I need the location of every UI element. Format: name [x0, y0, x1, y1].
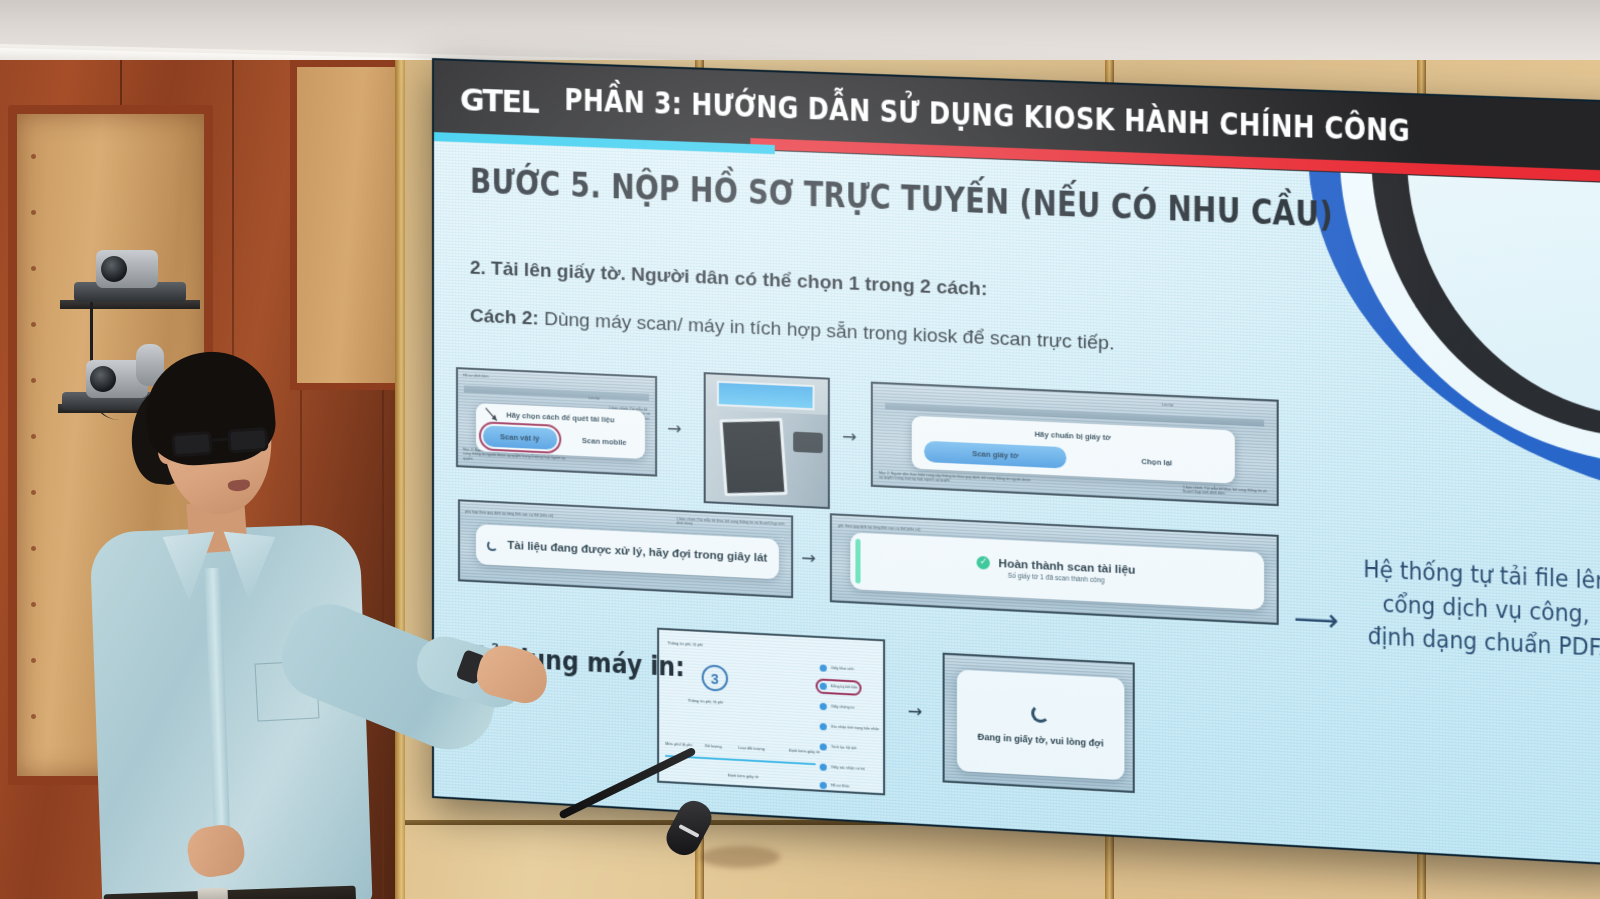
- arrow-photo-to-thumb3: →: [842, 427, 857, 448]
- projection-screen: GTEL PHẦN 3: HƯỚNG DẪN SỬ DỤNG KIOSK HÀN…: [432, 58, 1600, 867]
- wood-alcove-panel: [290, 60, 410, 390]
- printing-banner: Đang in giấy tờ, vui lòng đợi: [957, 670, 1124, 781]
- arrow-to-right-note: ⟶: [1293, 601, 1338, 639]
- thumb-printer-kiosk-ui: Thông tin phí, lệ phí 3 Thông tin phí, l…: [657, 628, 885, 796]
- banner-accent-bar: [855, 539, 860, 584]
- thumb-prepare-documents: Lưu lại Mục 2: Người dân thực hiện cung …: [871, 382, 1279, 507]
- menu-bullet-icon: [820, 703, 827, 710]
- printer-menu-label-2: Giấy chứng tử: [831, 705, 855, 711]
- scan-mobile-button[interactable]: Scan mobile: [570, 435, 638, 447]
- eyeglass-lens-right: [227, 427, 269, 454]
- thumb-scan-complete: gốc theo quy định tại từng lĩnh vực cụ t…: [830, 513, 1279, 625]
- menu-bullet-icon: [820, 664, 827, 671]
- printer-menu-label-1: Đăng ký kết hôn: [831, 684, 858, 690]
- arrow-processing-to-complete: →: [801, 548, 816, 569]
- menu-bullet-icon: [820, 723, 827, 730]
- menu-bullet-icon: [820, 683, 827, 690]
- presenter: [60, 352, 530, 899]
- option-text: Dùng máy scan/ máy in tích hợp sẵn trong…: [539, 309, 1115, 355]
- printing-banner-text: Đang in giấy tờ, vui lòng đợi: [978, 732, 1104, 749]
- printer-menu-label-6: Hồ sơ khác: [831, 784, 850, 790]
- printer-ui-col-1: Số lượng: [705, 743, 722, 749]
- microphone-shadow: [700, 846, 780, 868]
- arrow-thumb1-to-photo: →: [667, 419, 681, 440]
- scan-documents-button[interactable]: Scan giấy tờ: [925, 440, 1067, 468]
- thumb-printing: Đang in giấy tờ, vui lòng đợi: [943, 653, 1135, 794]
- choose-again-button[interactable]: Chọn lại: [1092, 454, 1222, 469]
- spinner-icon: [1031, 704, 1050, 723]
- step-badge-3: 3: [702, 664, 728, 692]
- option-label: Cách 2:: [470, 306, 539, 330]
- menu-bullet-icon: [820, 743, 827, 750]
- eyeglass-lens-left: [171, 431, 213, 458]
- kiosk-scanner-photo: [704, 372, 830, 509]
- processing-banner-text: Tài liệu đang được xử lý, hãy đợi trong …: [507, 540, 767, 565]
- belt-buckle: [198, 887, 229, 899]
- upload-note: Hệ thống tự tải file lên cổng dịch vụ cô…: [1362, 553, 1600, 666]
- thumb3-tiny-topright: Lưu lại: [1162, 403, 1173, 408]
- printer-menu-label-3: Xác nhận tình trạng hôn nhân: [831, 725, 884, 732]
- check-circle-icon: ✓: [977, 556, 990, 570]
- menu-bullet-icon: [820, 763, 827, 770]
- thumb1-tiny-topright: Lưu lại: [588, 396, 599, 401]
- gtel-logo: GTEL: [460, 83, 538, 121]
- ceiling: [0, 0, 1600, 62]
- arrow-printer-to-printing: →: [908, 701, 923, 722]
- slide-title: BƯỚC 5. NỘP HỒ SƠ TRỰC TUYẾN (NẾU CÓ NHU…: [470, 161, 1333, 234]
- option-instruction: Cách 2: Dùng máy scan/ máy in tích hợp s…: [470, 306, 1114, 356]
- camera-lens-top: [101, 256, 127, 282]
- presentation-scene: GTEL PHẦN 3: HƯỚNG DẪN SỬ DỤNG KIOSK HÀN…: [0, 0, 1600, 899]
- prepare-documents-dialog-title: Hãy chuẩn bị giấy tờ: [1034, 429, 1110, 442]
- menu-bullet-icon: [820, 782, 827, 789]
- printer-menu-label-4: Trích lục hộ tịch: [831, 745, 857, 751]
- eyeglass-bridge: [212, 438, 228, 442]
- printer-menu-label-0: Giấy khai sinh: [831, 666, 854, 672]
- step-instruction: 2. Tải lên giấy tờ. Người dân có thể chọ…: [470, 258, 987, 302]
